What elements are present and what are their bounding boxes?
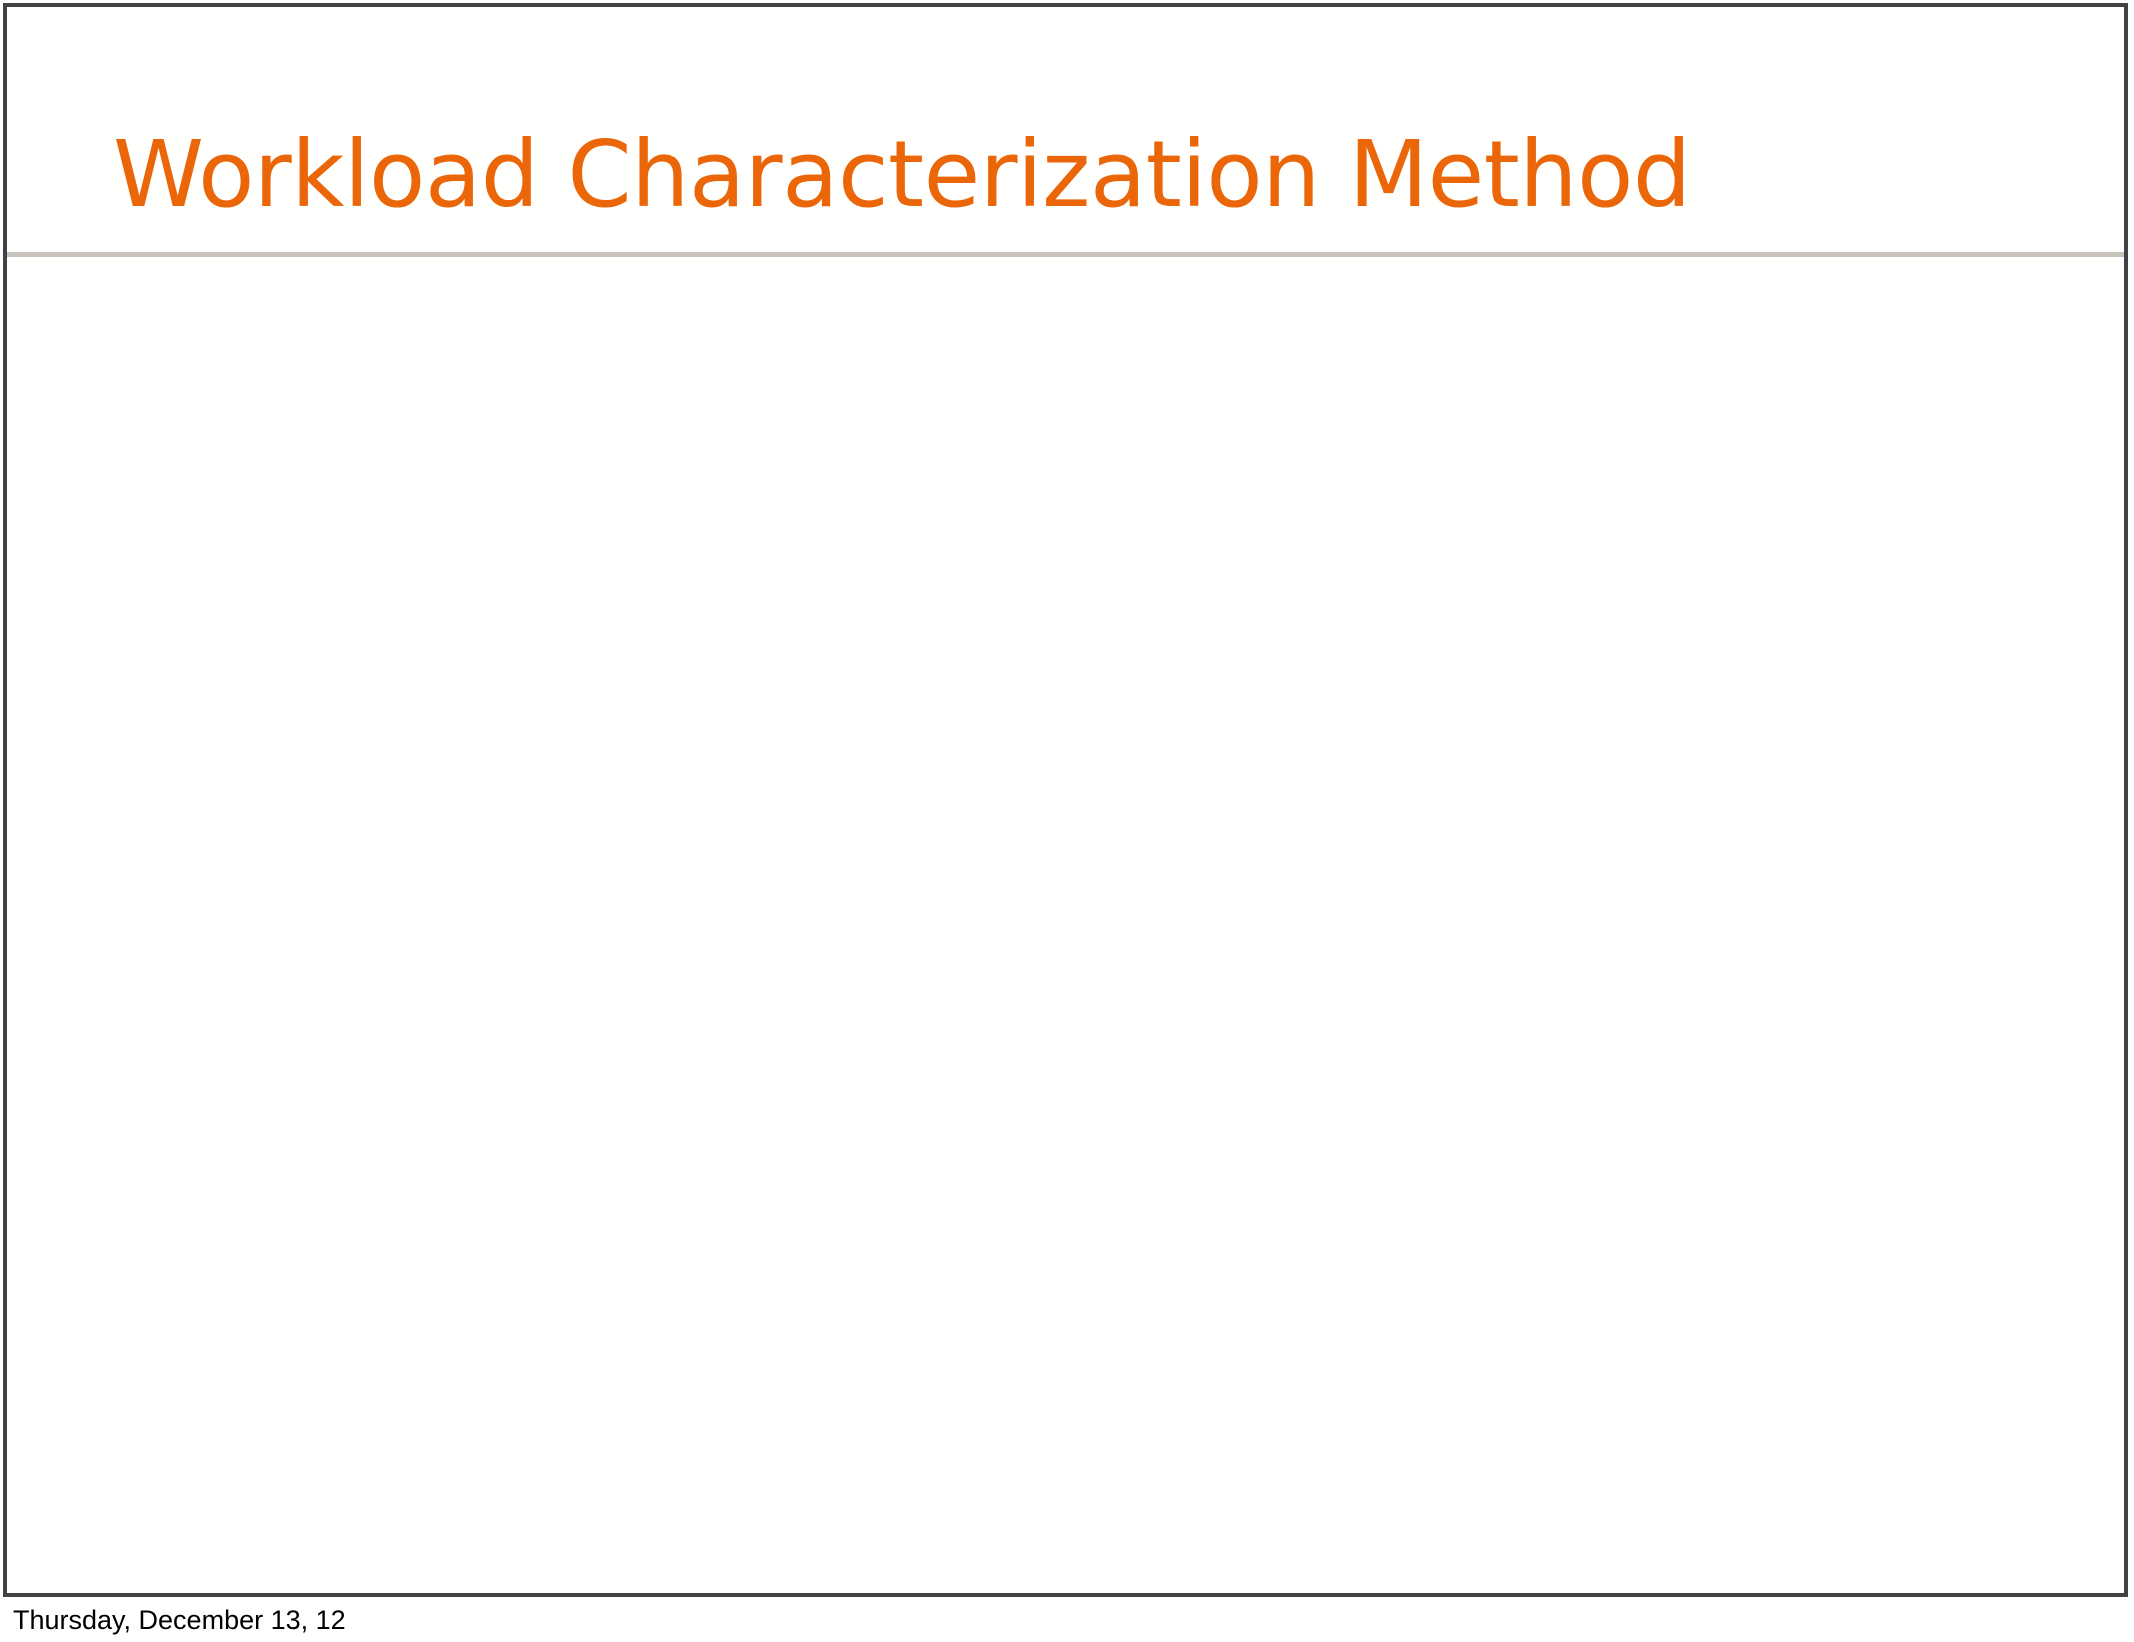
slide-body-content <box>7 257 2124 1593</box>
page-title: Workload Characterization Method <box>113 129 1691 221</box>
slide-title-area: Workload Characterization Method <box>7 7 2124 250</box>
presentation-page: Workload Characterization Method Thursda… <box>0 0 2134 1642</box>
slide-frame: Workload Characterization Method <box>3 3 2128 1597</box>
footer-date: Thursday, December 13, 12 <box>13 1604 346 1637</box>
